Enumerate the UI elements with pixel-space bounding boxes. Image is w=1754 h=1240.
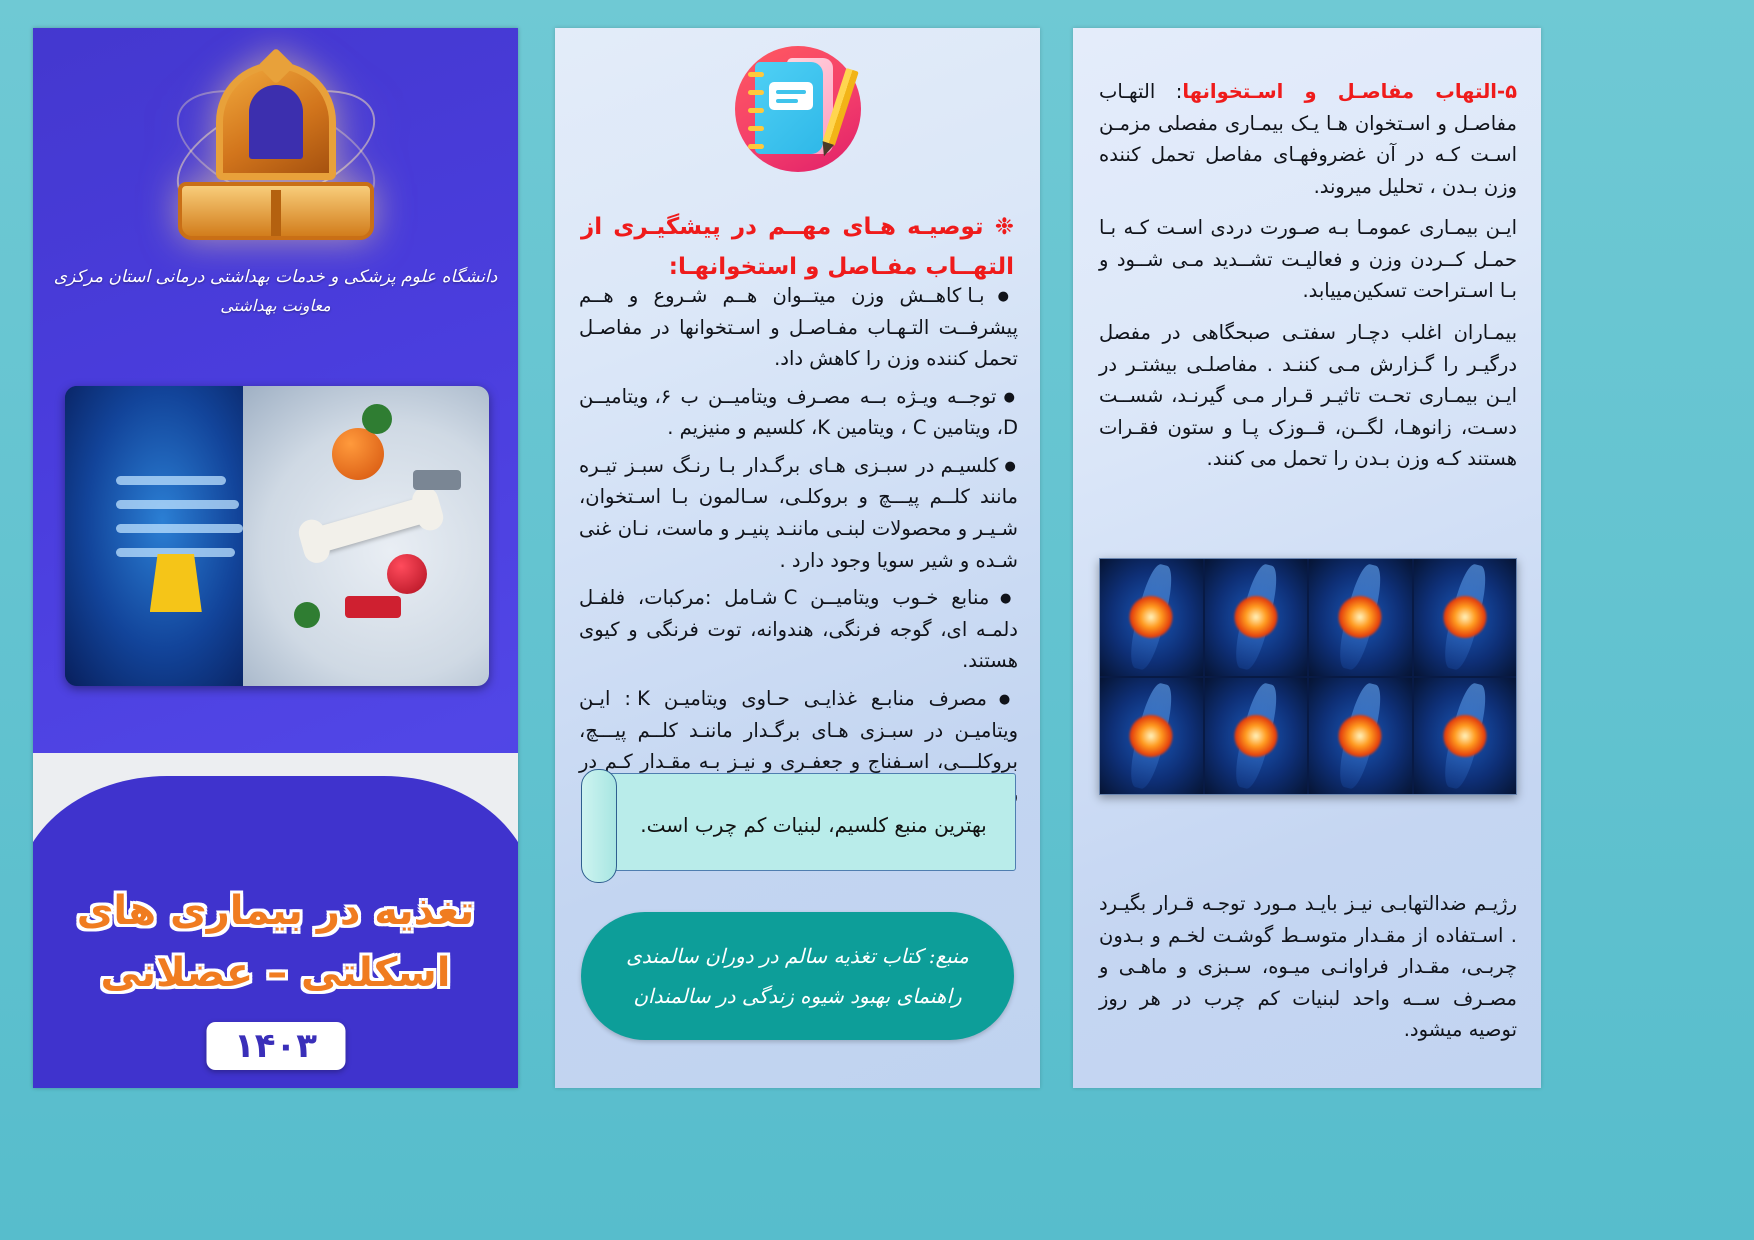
list-item: منابع خـوب ویتامیــن C شـامل :مرکبات، فل… [579,582,1018,677]
caution-sign-icon [150,554,202,612]
section-paragraph-3: بیمـاران اغلب دچـار سفتـی صبحگاهی در مفص… [1099,317,1517,475]
mihrab-arch-shape [216,62,336,180]
pain-glow [1234,596,1277,638]
xray-image-cell [1309,678,1412,795]
spiral-ring [748,108,764,113]
xray-image-cell [1100,559,1203,676]
basketball-icon [332,428,384,480]
broccoli-icon [294,602,320,628]
xray-image-cell [1414,559,1517,676]
xray-image-cell [1205,678,1308,795]
pain-glow [1443,715,1486,757]
page-title-line-1: تغذیه در بیماری های [33,880,518,942]
source-line-1: منبع: کتاب تغذیه سالم در دوران سالمندی [626,936,969,976]
xray-image-cell [1100,678,1203,795]
page-title-line-2: اسکلتی – عضلانی [33,942,518,1004]
year-badge: ۱۴۰۳ [206,1022,345,1070]
rib-line [116,476,226,485]
list-item: توجــه ویـژه بــه مصـرف ویتامیــن ب ۶، و… [579,381,1018,444]
open-book-shape [178,182,374,240]
spiral-ring [748,126,764,131]
spiral-ring [748,72,764,77]
skeleton-nutrition-illustration [65,386,489,686]
list-item: بـا کاهــش وزن میتــوان هــم شـروع و هــ… [579,280,1018,375]
logo-block: دانشگاه علوم پزشکی و خدمات بهداشتی درمان… [33,56,518,315]
recommendations-list: بـا کاهــش وزن میتــوان هــم شـروع و هــ… [579,280,1018,815]
source-line-2: راهنمای بهبود شیوه زندگی در سالمندان [633,976,961,1016]
source-box: منبع: کتاب تغذیه سالم در دوران سالمندی ر… [581,912,1014,1040]
pain-glow [1339,596,1382,638]
xray-image-cell [1309,559,1412,676]
university-emblem-logo-icon [171,56,381,246]
section-paragraph-2: ایـن بیمـاری عمومـا بـه صـورت دردی اسـت … [1099,212,1517,307]
tree-icon [362,404,392,434]
xray-image-cell [1205,559,1308,676]
rib-line [116,500,239,509]
list-item: کلسیـم در سبـزی هـای برگـدار بـا رنـگ سب… [579,450,1018,576]
university-deputy-name: معاونت بهداشتی [33,296,518,315]
arthritis-section: ۵-التهاب مفاصـل و اسـتخوانها: التهـاب مف… [1099,76,1517,485]
cover-panel: دانشگاه علوم پزشکی و خدمات بهداشتی درمان… [33,28,518,1088]
strawberry-icon [387,554,427,594]
section-paragraph-1: ۵-التهاب مفاصـل و اسـتخوانها: التهـاب مف… [1099,76,1517,202]
middle-panel: ❉ توصیـه هـای مهــم در پیشگیـری از التهـ… [555,28,1040,1088]
scroll-note-callout: بهترین منبع کلسیم، لبنیات کم چرب است. [579,773,1016,881]
right-panel: ۵-التهاب مفاصـل و اسـتخوانها: التهـاب مف… [1073,28,1541,1088]
brochure-sheet: دانشگاه علوم پزشکی و خدمات بهداشتی درمان… [0,0,1754,1240]
scroll-note-text: بهترین منبع کلسیم، لبنیات کم چرب است. [629,813,998,837]
xray-image-cell [1414,678,1517,795]
pain-glow [1443,596,1486,638]
pain-glow [1130,596,1173,638]
spiral-ring [748,90,764,95]
rib-line [116,524,243,533]
scroll-roll-decoration [581,769,617,883]
spiral-ring [748,144,764,149]
pain-glow [1130,715,1173,757]
pain-glow [1234,715,1277,757]
notebook-text-lines [769,82,813,110]
pain-glow [1339,715,1382,757]
university-name: دانشگاه علوم پزشکی و خدمات بهداشتی درمان… [33,260,518,294]
anti-inflammatory-diet-note: رژیـم ضدالتهابـی نیـز بایـد مـورد توجـه … [1099,888,1517,1046]
page-title: تغذیه در بیماری های اسکلتی – عضلانی [33,880,518,1004]
recommendations-heading: ❉ توصیـه هـای مهــم در پیشگیـری از التهـ… [581,207,1014,288]
notebook-pencil-icon [735,46,861,172]
joint-pain-xray-image-grid [1099,558,1517,795]
car-icon-2 [413,470,461,490]
car-icon [345,596,401,618]
bottom-paragraph: رژیـم ضدالتهابـی نیـز بایـد مـورد توجـه … [1099,888,1517,1046]
section-title: ۵-التهاب مفاصـل و اسـتخوانها [1182,80,1517,103]
xray-body-region [65,386,260,686]
